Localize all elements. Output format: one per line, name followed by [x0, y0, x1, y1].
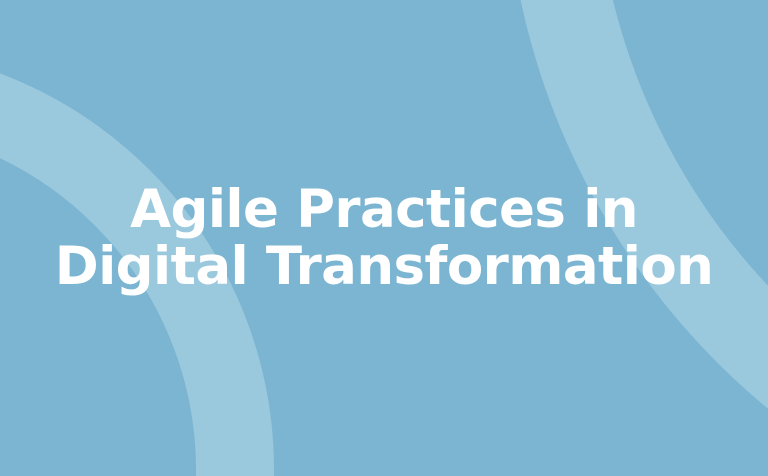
title-banner: Agile Practices in Digital Transformatio…	[0, 0, 768, 476]
banner-title-block: Agile Practices in Digital Transformatio…	[0, 0, 768, 476]
banner-title-line-1: Agile Practices in	[130, 181, 638, 238]
banner-title-line-2: Digital Transformation	[55, 238, 714, 295]
